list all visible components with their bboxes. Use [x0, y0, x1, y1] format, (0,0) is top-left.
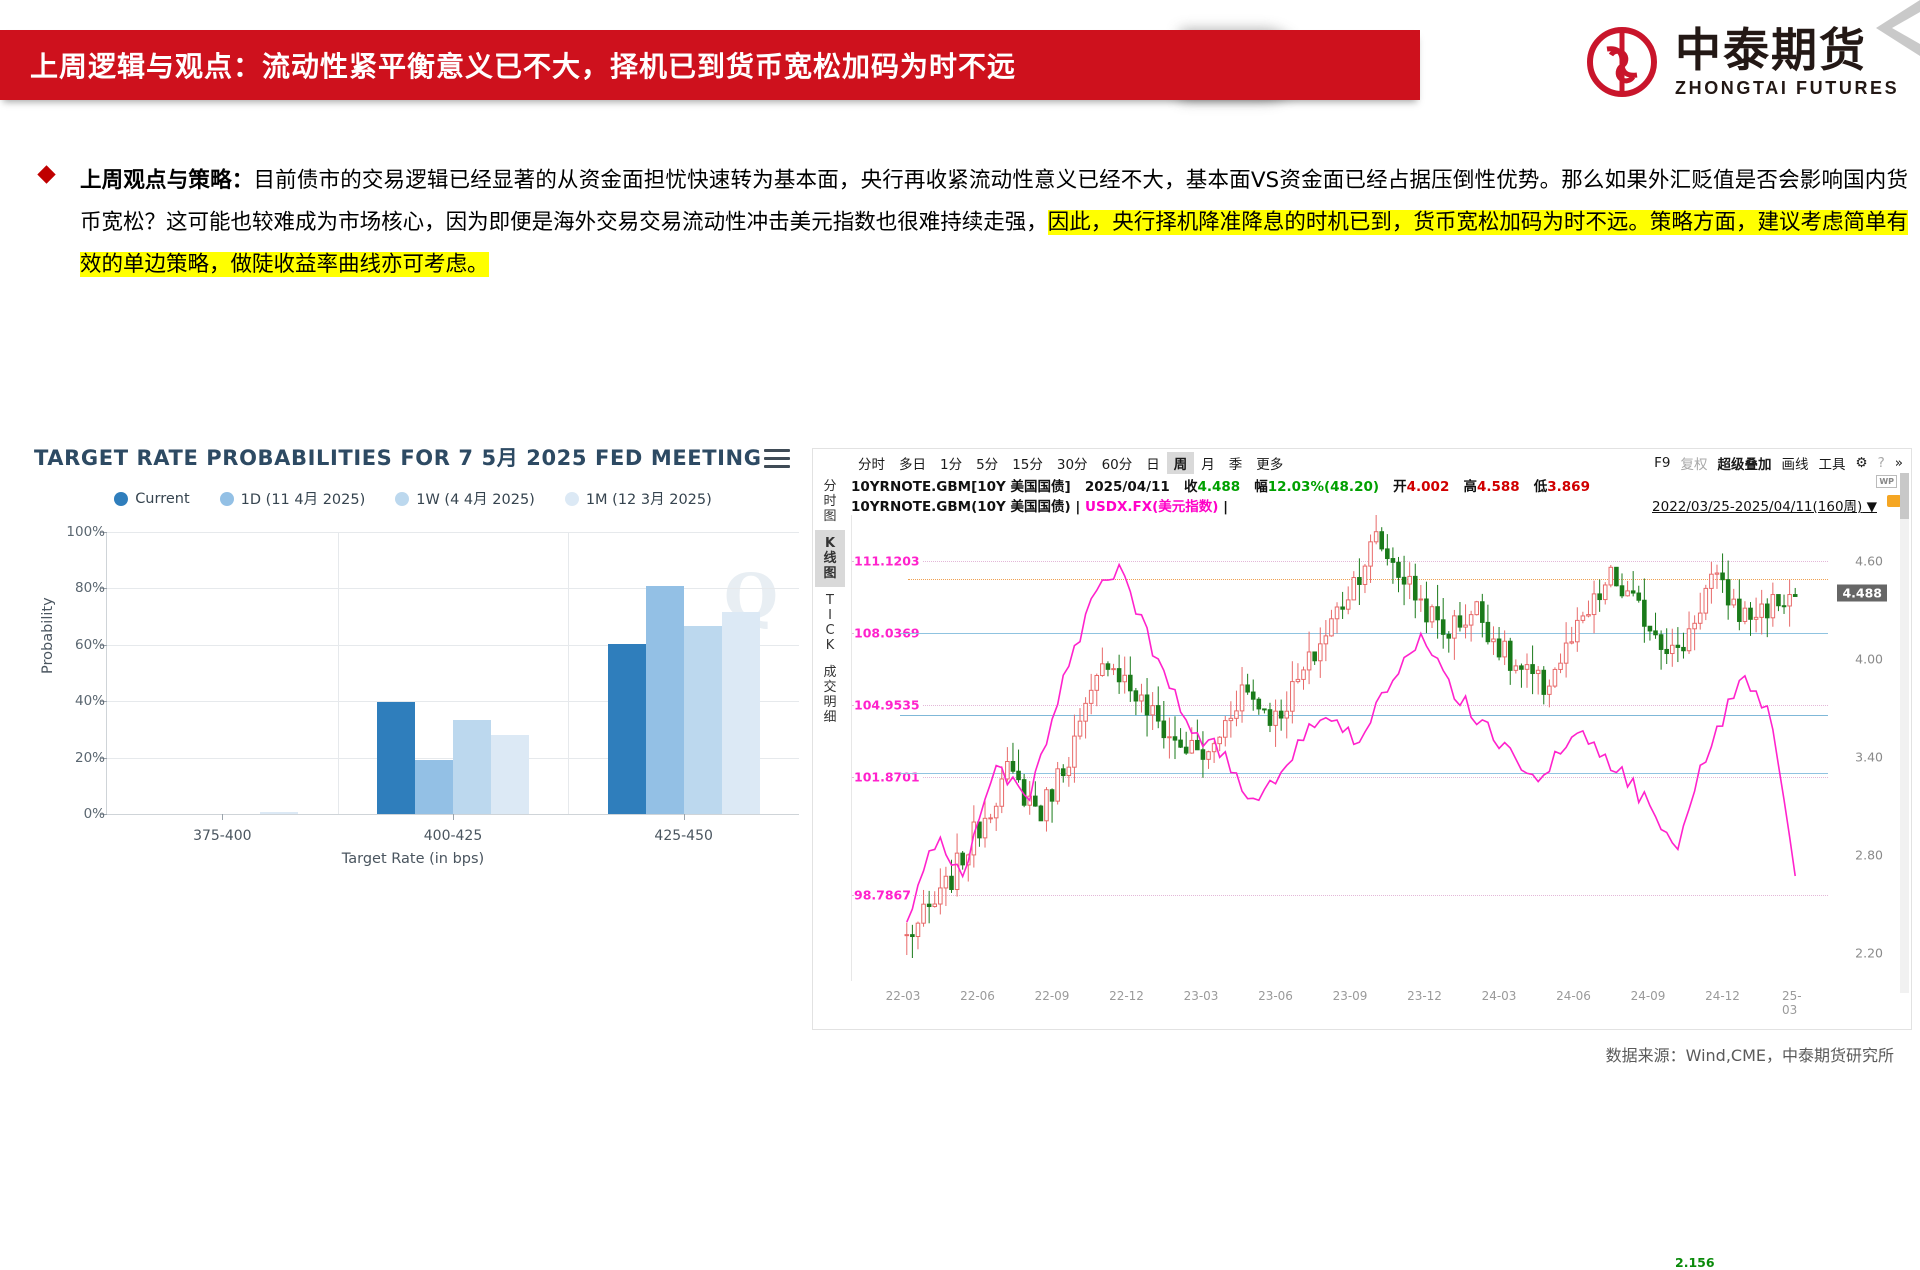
current-price-tag: 4.488: [1837, 585, 1887, 602]
bar-425-450-1M (12 3月 2025)[interactable]: [722, 612, 760, 814]
overlay-secondary[interactable]: USDX.FX(美元指数): [1085, 499, 1218, 515]
x-tick-label: 425-450: [654, 828, 713, 844]
chart-plot-area: 0%20%40%60%80%100%375-400400-425425-450: [106, 532, 799, 815]
rail-item-成交明细[interactable]: 成交明细: [815, 659, 845, 731]
quote-summary-line: 10YRNOTE.GBM[10Y 美国国债] 2025/04/11 收4.488…: [851, 475, 1590, 495]
y-tick-label: 60%: [75, 637, 105, 653]
open-value: 4.002: [1407, 479, 1450, 495]
y-tick-label: 40%: [75, 693, 105, 709]
x-date-tick: 22-12: [1109, 989, 1144, 1003]
right-axis-tick: 4.60: [1855, 554, 1883, 569]
high-label: 高: [1463, 479, 1477, 495]
y-tick-label: 80%: [75, 580, 105, 596]
right-axis-tick: 2.80: [1855, 848, 1883, 863]
lock-icon[interactable]: [1887, 495, 1901, 507]
low-value: 3.869: [1547, 479, 1590, 495]
tool-F9[interactable]: F9: [1654, 455, 1670, 471]
source-footnote: 数据来源：Wind,CME，中泰期货研究所: [1606, 1042, 1894, 1066]
x-date-tick: 22-03: [886, 989, 921, 1003]
chart-title: TARGET RATE PROBABILITIES FOR 7 5月 2025 …: [34, 442, 762, 472]
scrollbar-thumb[interactable]: [1900, 473, 1909, 519]
legend-label: 1M (12 3月 2025): [586, 488, 712, 509]
tool-画线[interactable]: 画线: [1781, 453, 1808, 473]
x-date-tick: 25-03: [1782, 989, 1812, 1017]
hamburger-icon[interactable]: [764, 444, 790, 473]
commentary-lead: 上周观点与策略：: [80, 168, 253, 193]
x-tick-label: 375-400: [193, 828, 252, 844]
title-bar: 上周逻辑与观点：流动性紧平衡意义已不大，择机已到货币宽松加码为时不远: [0, 30, 1420, 100]
x-date-tick: 23-12: [1407, 989, 1442, 1003]
period-tab-日[interactable]: 日: [1139, 452, 1167, 474]
brand-logo: 中泰期货 ZHONGTAI FUTURES: [1585, 25, 1899, 99]
quote-date: 2025/04/11: [1085, 479, 1170, 495]
y-gridline: [107, 532, 799, 533]
date-range-label: 2022/03/25-2025/04/11(160周): [1652, 499, 1862, 515]
rail-item-K线图[interactable]: K线图: [815, 530, 845, 587]
overlay-separator: |: [1071, 499, 1085, 515]
brand-name-en: ZHONGTAI FUTURES: [1675, 79, 1899, 97]
x-gridline: [568, 532, 569, 814]
commentary-paragraph: 上周观点与策略：目前债市的交易逻辑已经显著的从资金面担忧快速转为基本面，央行再收…: [80, 160, 1908, 286]
page-title: 上周逻辑与观点：流动性紧平衡意义已不大，择机已到货币宽松加码为时不远: [30, 45, 1016, 85]
terminal-toolbar: F9复权超级叠加画线工具⚙?»: [1654, 453, 1903, 473]
brand-text: 中泰期货 ZHONGTAI FUTURES: [1675, 27, 1899, 97]
price-chart-canvas[interactable]: 111.1203108.0369104.9535101.870198.7867: [851, 515, 1828, 981]
period-tab-月[interactable]: 月: [1194, 452, 1222, 474]
legend-item-0[interactable]: Current: [114, 491, 189, 507]
x-date-tick: 24-06: [1556, 989, 1591, 1003]
period-tab-季[interactable]: 季: [1222, 452, 1250, 474]
legend-label: 1W (4 4月 2025): [416, 488, 535, 509]
bar-425-450-1D (11 4月 2025)[interactable]: [646, 586, 684, 814]
brand-name-cn: 中泰期货: [1675, 27, 1899, 73]
right-price-axis: 4.604.003.402.802.204.488: [1827, 515, 1887, 981]
period-tab-15分[interactable]: 15分: [1005, 452, 1050, 474]
x-axis-label: Target Rate (in bps): [18, 851, 808, 867]
high-value: 4.588: [1477, 479, 1520, 495]
legend-label: Current: [135, 491, 189, 507]
x-date-tick: 23-09: [1333, 989, 1368, 1003]
period-tab-周[interactable]: 周: [1167, 452, 1195, 474]
x-date-tick: 22-09: [1035, 989, 1070, 1003]
x-date-tick: 24-09: [1631, 989, 1666, 1003]
view-mode-rail: 分时图K线图TICK成交明细: [815, 473, 847, 731]
y-tick-label: 100%: [66, 524, 105, 540]
candlestick-terminal: 分时多日1分5分15分30分60分日周月季更多 F9复权超级叠加画线工具⚙?» …: [812, 448, 1912, 1030]
wp-badge-icon: WP: [1876, 475, 1897, 488]
x-date-tick: 23-06: [1258, 989, 1293, 1003]
y-tick-label: 20%: [75, 750, 105, 766]
right-axis-tick: 4.00: [1855, 652, 1883, 667]
x-date-axis: 22-0322-0622-0922-1223-0323-0623-0923-12…: [851, 989, 1827, 1007]
period-tab-分时[interactable]: 分时: [851, 452, 892, 474]
tool-复权[interactable]: 复权: [1680, 453, 1707, 473]
gear-icon[interactable]: ⚙: [1855, 455, 1867, 471]
period-tab-60分[interactable]: 60分: [1095, 452, 1140, 474]
period-tab-30分[interactable]: 30分: [1050, 452, 1095, 474]
rail-item-分时图[interactable]: 分时图: [815, 473, 845, 530]
legend-label: 1D (11 4月 2025): [241, 488, 366, 509]
legend-swatch-icon: [565, 492, 579, 506]
legend-swatch-icon: [395, 492, 409, 506]
bar-375-400-1M (12 3月 2025)[interactable]: [260, 812, 298, 814]
bar-400-425-Current[interactable]: [377, 702, 415, 814]
period-tab-多日[interactable]: 多日: [892, 452, 933, 474]
close-label: 收: [1184, 479, 1198, 495]
tool-工具[interactable]: 工具: [1818, 453, 1845, 473]
tool-超级叠加[interactable]: 超级叠加: [1717, 453, 1771, 473]
legend-item-2[interactable]: 1W (4 4月 2025): [395, 488, 535, 509]
x-tick-mark: [684, 814, 685, 820]
bar-400-425-1M (12 3月 2025)[interactable]: [491, 735, 529, 814]
page-header: 上周逻辑与观点：流动性紧平衡意义已不大，择机已到货币宽松加码为时不远 中泰期货 …: [0, 0, 1920, 130]
close-value: 4.488: [1197, 479, 1240, 495]
help-icon[interactable]: ?: [1878, 455, 1885, 471]
y-axis-label: Probability: [40, 597, 56, 674]
x-date-tick: 22-06: [960, 989, 995, 1003]
commentary-block: 上周观点与策略：目前债市的交易逻辑已经显著的从资金面担忧快速转为基本面，央行再收…: [18, 160, 1908, 286]
y-tick-label: 0%: [84, 806, 105, 822]
change-value: 12.03%(48.20): [1268, 479, 1379, 495]
right-axis-tick: 2.20: [1855, 946, 1883, 961]
annotation-low-value: 2.156: [1675, 1255, 1715, 1270]
bar-425-450-1W (4 4月 2025)[interactable]: [684, 626, 722, 814]
x-tick-mark: [222, 814, 223, 820]
date-range-selector[interactable]: 2022/03/25-2025/04/11(160周) ▼: [1652, 495, 1877, 515]
quote-symbol: 10YRNOTE.GBM[10Y 美国国债]: [851, 479, 1071, 495]
fed-probability-chart: TARGET RATE PROBABILITIES FOR 7 5月 2025 …: [18, 442, 808, 862]
x-gridline: [338, 532, 339, 814]
bar-400-425-1W (4 4月 2025)[interactable]: [453, 720, 491, 814]
x-date-tick: 23-03: [1184, 989, 1219, 1003]
low-label: 低: [1534, 479, 1548, 495]
period-tab-5分[interactable]: 5分: [969, 452, 1005, 474]
zhongtai-logo-icon: [1585, 25, 1659, 99]
legend-swatch-icon: [114, 492, 128, 506]
y-gridline: [107, 588, 799, 589]
more-chevron-icon[interactable]: »: [1895, 455, 1903, 471]
rail-item-TICK[interactable]: TICK: [815, 587, 845, 659]
open-label: 开: [1393, 479, 1407, 495]
legend-item-1[interactable]: 1D (11 4月 2025): [220, 488, 366, 509]
overlay-trailing: |: [1218, 499, 1228, 515]
x-date-tick: 24-03: [1482, 989, 1517, 1003]
change-label: 幅: [1254, 479, 1268, 495]
legend-item-3[interactable]: 1M (12 3月 2025): [565, 488, 712, 509]
bar-400-425-1D (11 4月 2025)[interactable]: [415, 760, 453, 814]
right-axis-tick: 3.40: [1855, 750, 1883, 765]
chart-legend: Current1D (11 4月 2025)1W (4 4月 2025)1M (…: [18, 488, 808, 509]
x-date-tick: 24-12: [1705, 989, 1740, 1003]
period-tab-更多[interactable]: 更多: [1249, 452, 1290, 474]
period-tab-1分[interactable]: 1分: [933, 452, 969, 474]
x-tick-mark: [453, 814, 454, 820]
period-tab-bar: 分时多日1分5分15分30分60分日周月季更多: [851, 453, 1290, 473]
chevron-left-icon: [1874, 0, 1920, 56]
vertical-scrollbar[interactable]: [1900, 473, 1909, 993]
bar-425-450-Current[interactable]: [608, 644, 646, 814]
candlestick-series: [852, 515, 1828, 981]
x-tick-label: 400-425: [424, 828, 483, 844]
legend-swatch-icon: [220, 492, 234, 506]
overlay-primary: 10YRNOTE.GBM(10Y 美国国债): [851, 499, 1071, 515]
overlay-series-line: 10YRNOTE.GBM(10Y 美国国债) | USDX.FX(美元指数) |: [851, 495, 1228, 515]
diamond-bullet-icon: [37, 165, 55, 183]
